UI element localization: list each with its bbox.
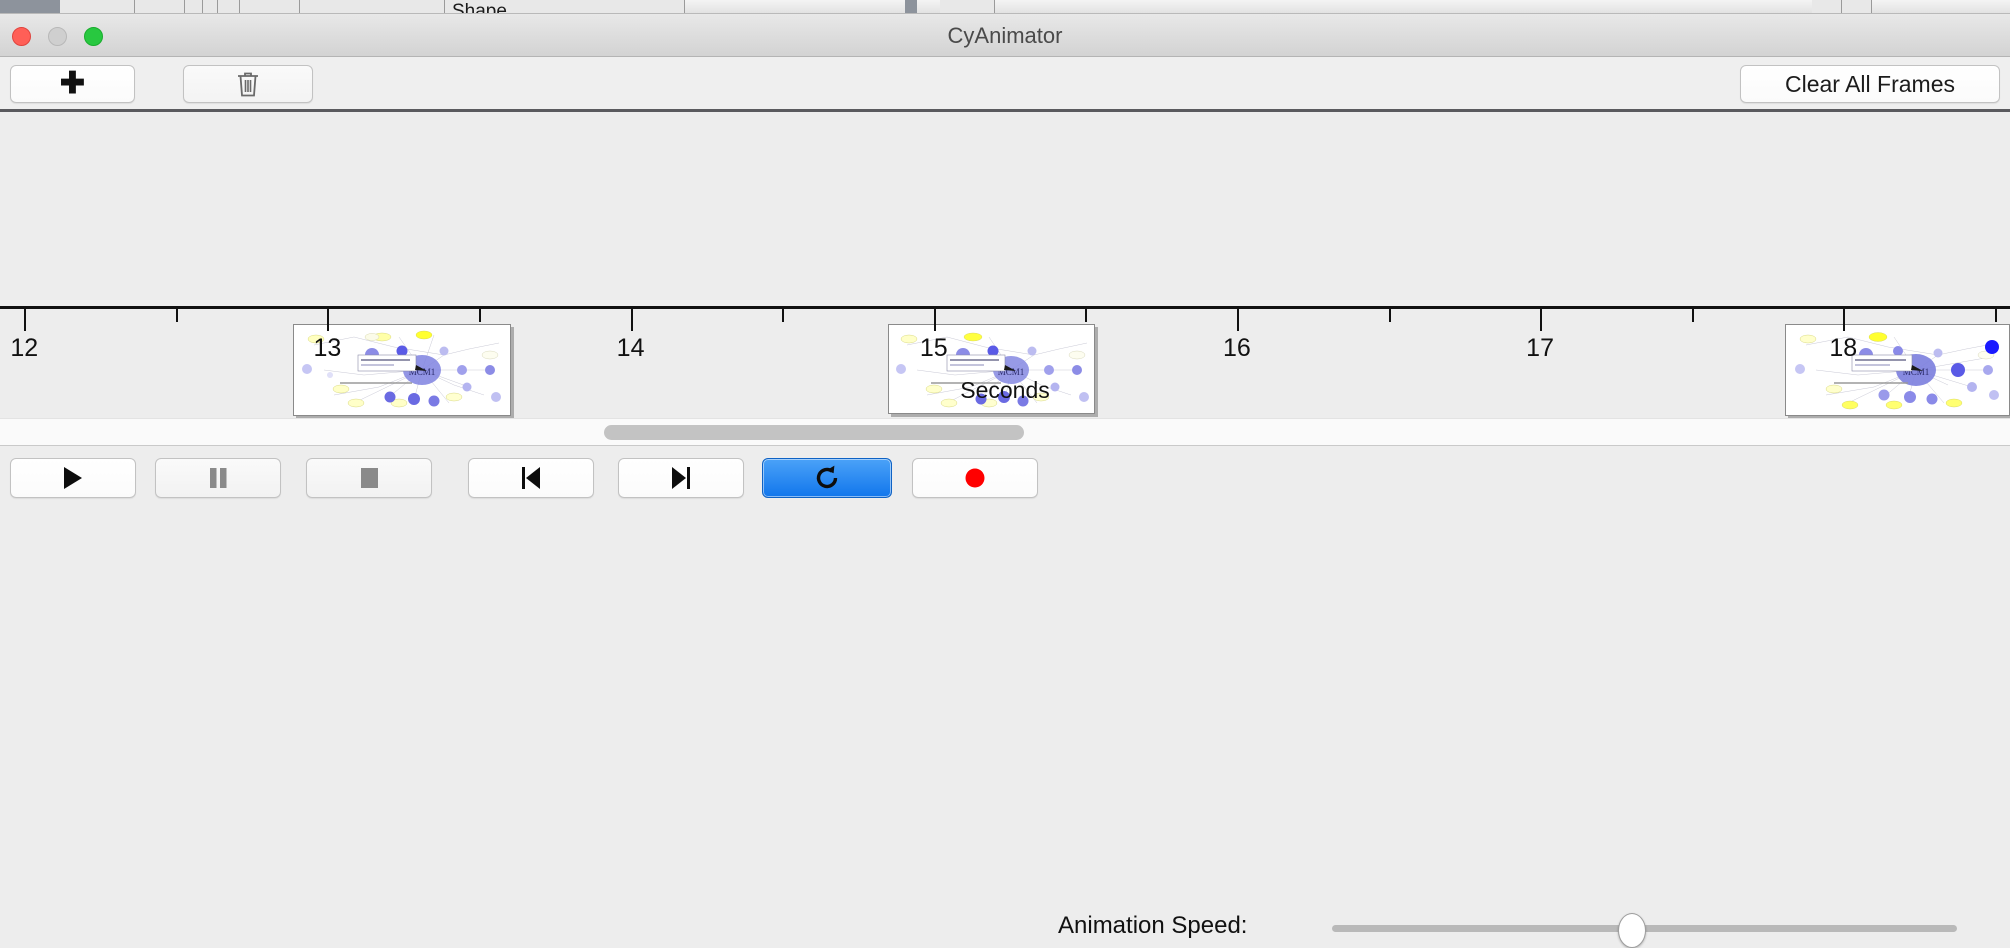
toolbar: ✚ Clear All Frames	[0, 57, 2010, 109]
axis-tick-major	[1843, 309, 1845, 331]
axis-tick-major	[327, 309, 329, 331]
axis-tick-major	[24, 309, 26, 331]
clear-all-frames-label: Clear All Frames	[1785, 71, 1955, 98]
animation-speed-slider[interactable]	[1332, 914, 1957, 944]
loop-button[interactable]	[762, 458, 892, 498]
axis-tick-label: 12	[10, 334, 38, 363]
axis-tick-label: 17	[1526, 334, 1554, 363]
axis-tick-minor	[782, 309, 784, 322]
stop-icon	[356, 464, 382, 492]
play-button[interactable]	[10, 458, 136, 498]
background-window-strip: Shape	[0, 0, 2010, 14]
axis-tick-label: 13	[314, 334, 342, 363]
slider-thumb[interactable]	[1618, 913, 1646, 948]
add-frame-button[interactable]: ✚	[10, 65, 135, 103]
pause-button[interactable]	[155, 458, 281, 498]
axis-tick-major	[1540, 309, 1542, 331]
axis-tick-minor	[1692, 309, 1694, 322]
axis-tick-minor	[1389, 309, 1391, 322]
axis-tick-minor	[1995, 309, 1997, 322]
pause-icon	[205, 464, 231, 492]
axis-tick-minor	[176, 309, 178, 322]
record-icon	[962, 465, 988, 491]
background-window-title: Shape	[452, 1, 507, 14]
window-title: CyAnimator	[0, 14, 2010, 57]
playback-toolbar: Animation Speed:	[0, 446, 2010, 510]
delete-frame-button[interactable]	[183, 65, 313, 103]
timeline-axis	[0, 306, 2010, 309]
trash-icon	[236, 70, 260, 98]
skip-previous-icon	[518, 464, 544, 492]
stop-button[interactable]	[306, 458, 432, 498]
animation-speed-label: Animation Speed:	[1058, 912, 1247, 940]
skip-next-button[interactable]	[618, 458, 744, 498]
skip-next-icon	[668, 464, 694, 492]
axis-title: Seconds	[0, 377, 2010, 404]
axis-tick-label: 14	[617, 334, 645, 363]
axis-tick-major	[934, 309, 936, 331]
axis-tick-label: 15	[920, 334, 948, 363]
axis-tick-label: 18	[1829, 334, 1857, 363]
axis-tick-label: 16	[1223, 334, 1251, 363]
skip-previous-button[interactable]	[468, 458, 594, 498]
axis-tick-minor	[479, 309, 481, 322]
axis-tick-major	[1237, 309, 1239, 331]
axis-tick-major	[631, 309, 633, 331]
timeline-scrollbar[interactable]	[0, 418, 2010, 446]
play-icon	[60, 464, 86, 492]
clear-all-frames-button[interactable]: Clear All Frames	[1740, 65, 2000, 103]
loop-icon	[813, 464, 841, 492]
timeline-scrollbar-thumb[interactable]	[604, 425, 1024, 440]
record-button[interactable]	[912, 458, 1038, 498]
axis-tick-minor	[1085, 309, 1087, 322]
plus-icon: ✚	[60, 69, 85, 99]
title-bar: CyAnimator	[0, 14, 2010, 57]
